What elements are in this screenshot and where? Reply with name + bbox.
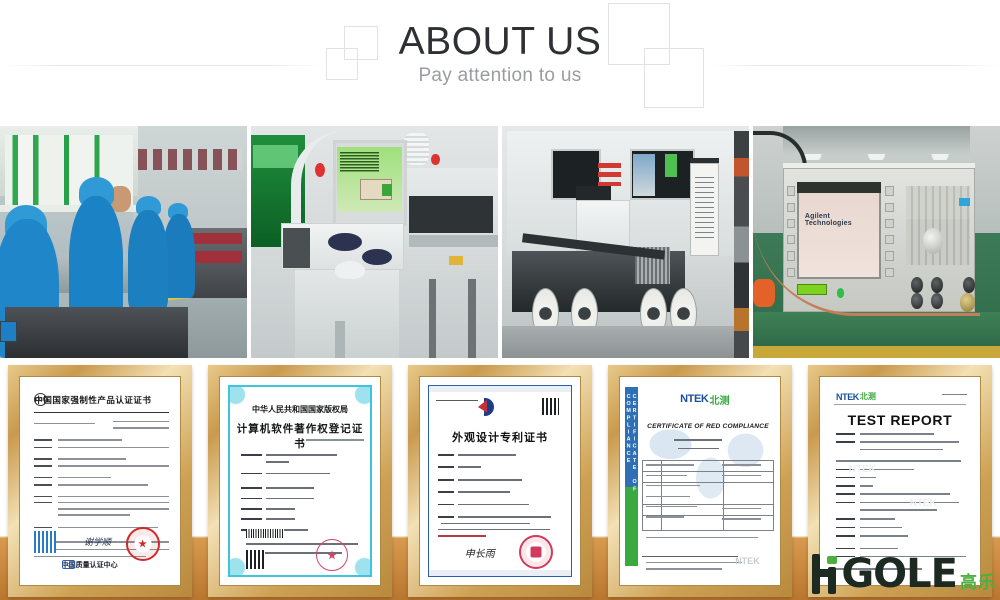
higole-chinese-name: 高乐 [960, 574, 996, 591]
higole-wordmark: GOLE [841, 554, 957, 594]
patent-title: 外观设计专利证书 [436, 429, 564, 445]
ntek-brand-cn: 北测 [709, 392, 729, 407]
patent-qr-code [542, 398, 559, 415]
ntek-brand-cn: 北测 [860, 391, 876, 402]
copyright-barcode [246, 529, 284, 538]
cqc-mark-icon: CQC [62, 560, 75, 569]
ccc-certificate-title: 中国国家强制性产品认证证书 [34, 394, 151, 406]
patent-signature: 申长雨 [465, 545, 507, 560]
higole-logo: GOLE 高乐 [812, 554, 996, 594]
certificate-frame: CERTIFICATE OF COMPLIANCE NTEK 北测 CERTIF… [608, 365, 792, 597]
certificate-red-compliance[interactable]: CERTIFICATE OF COMPLIANCE NTEK 北测 CERTIF… [600, 362, 800, 600]
ntek-brand-latin: NTEK [836, 392, 859, 402]
copyright-title-line1: 中华人民共和国国家版权局 [236, 404, 364, 415]
certificate-software-copyright[interactable]: 中华人民共和国国家版权局 计算机软件著作权登记证书 [200, 362, 400, 600]
certificate-design-patent[interactable]: 外观设计专利证书 申长雨 [400, 362, 600, 600]
copyright-red-seal [316, 539, 348, 571]
red-compliance-title: CERTIFICATE OF RED COMPLIANCE [642, 423, 773, 430]
about-us-page: ABOUT US Pay attention to us [0, 0, 1000, 600]
photo-pick-and-place-machine [502, 126, 749, 358]
compliance-sidebar-text: CERTIFICATE OF COMPLIANCE [625, 394, 638, 498]
photo-agilent-network-analyzer: Agilent Technologies [753, 126, 1000, 358]
certificate-frame: CCC 中国国家强制性产品认证证书 [8, 365, 192, 597]
ntek-watermark: NTEK [910, 498, 937, 509]
photo-smt-inspection-machine [251, 126, 498, 358]
ntek-watermark: NTEK [849, 464, 876, 475]
ntek-watermark: NTEK [735, 556, 773, 566]
copyright-qr-code [246, 550, 265, 569]
facility-photo-strip: Agilent Technologies [0, 126, 1000, 358]
ntek-brand-latin: NTEK [680, 393, 708, 405]
ccc-signature: 谢学顺 [84, 535, 122, 545]
page-title: ABOUT US [0, 22, 1000, 61]
copyright-title-line2: 计算机软件著作权登记证书 [236, 421, 364, 451]
page-header: ABOUT US Pay attention to us [0, 0, 1000, 118]
certificate-frame: 外观设计专利证书 申长雨 [408, 365, 592, 597]
photo-assembly-line [0, 126, 247, 358]
page-subtitle: Pay attention to us [0, 66, 1000, 85]
ccc-red-seal [126, 527, 160, 561]
higole-hi-mark-icon [812, 554, 838, 594]
certificate-frame: 中华人民共和国国家版权局 计算机软件著作权登记证书 [208, 365, 392, 597]
cnipa-logo-icon [484, 398, 506, 416]
test-report-title: TEST REPORT [834, 412, 965, 428]
certificate-ccc[interactable]: CCC 中国国家强制性产品认证证书 [0, 362, 200, 600]
ccc-qr-code [34, 531, 56, 553]
